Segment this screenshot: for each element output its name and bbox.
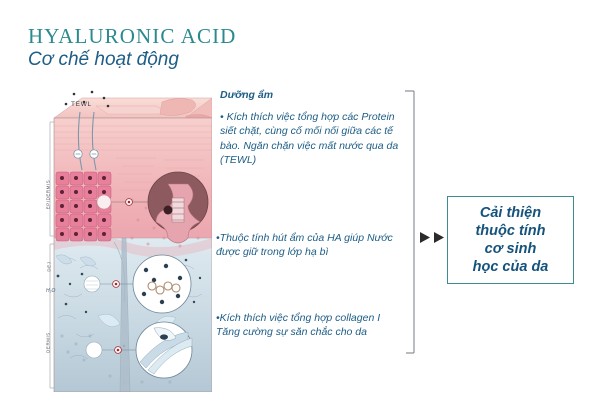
infographic-page: HYALURONIC ACID Cơ chế hoạt động [0, 0, 600, 418]
section-heading: Dưỡng ẩm [220, 89, 273, 101]
tewl-label: TEWL [71, 101, 92, 108]
page-title: HYALURONIC ACID [28, 24, 236, 49]
h2o-label: H₂O [46, 288, 55, 294]
grouping-bracket [404, 90, 418, 354]
layer-label-dermis: DERMIS [46, 321, 51, 365]
result-text: Cải thiện thuộc tính cơ sinh học của da [473, 204, 549, 276]
layer-label-epidermis: EPIDERMIS [46, 173, 51, 217]
page-subtitle: Cơ chế hoạt động [28, 49, 179, 71]
bullet-moisture: • Kích thích việc tổng hợp các Protein s… [220, 110, 400, 168]
bullet-hydration: •Thuộc tính hút ẩm của HA giúp Nước được… [216, 231, 406, 260]
result-box: Cải thiện thuộc tính cơ sinh học của da [447, 196, 574, 284]
skin-diagram: TEWL H₂O EPIDERMIS DEJ DERMIS [36, 88, 212, 392]
bullet-collagen: •Kích thích việc tổng hợp collagen I Tăn… [216, 311, 406, 340]
flow-arrows [420, 231, 448, 244]
layer-label-dej: DEJ [47, 245, 52, 289]
